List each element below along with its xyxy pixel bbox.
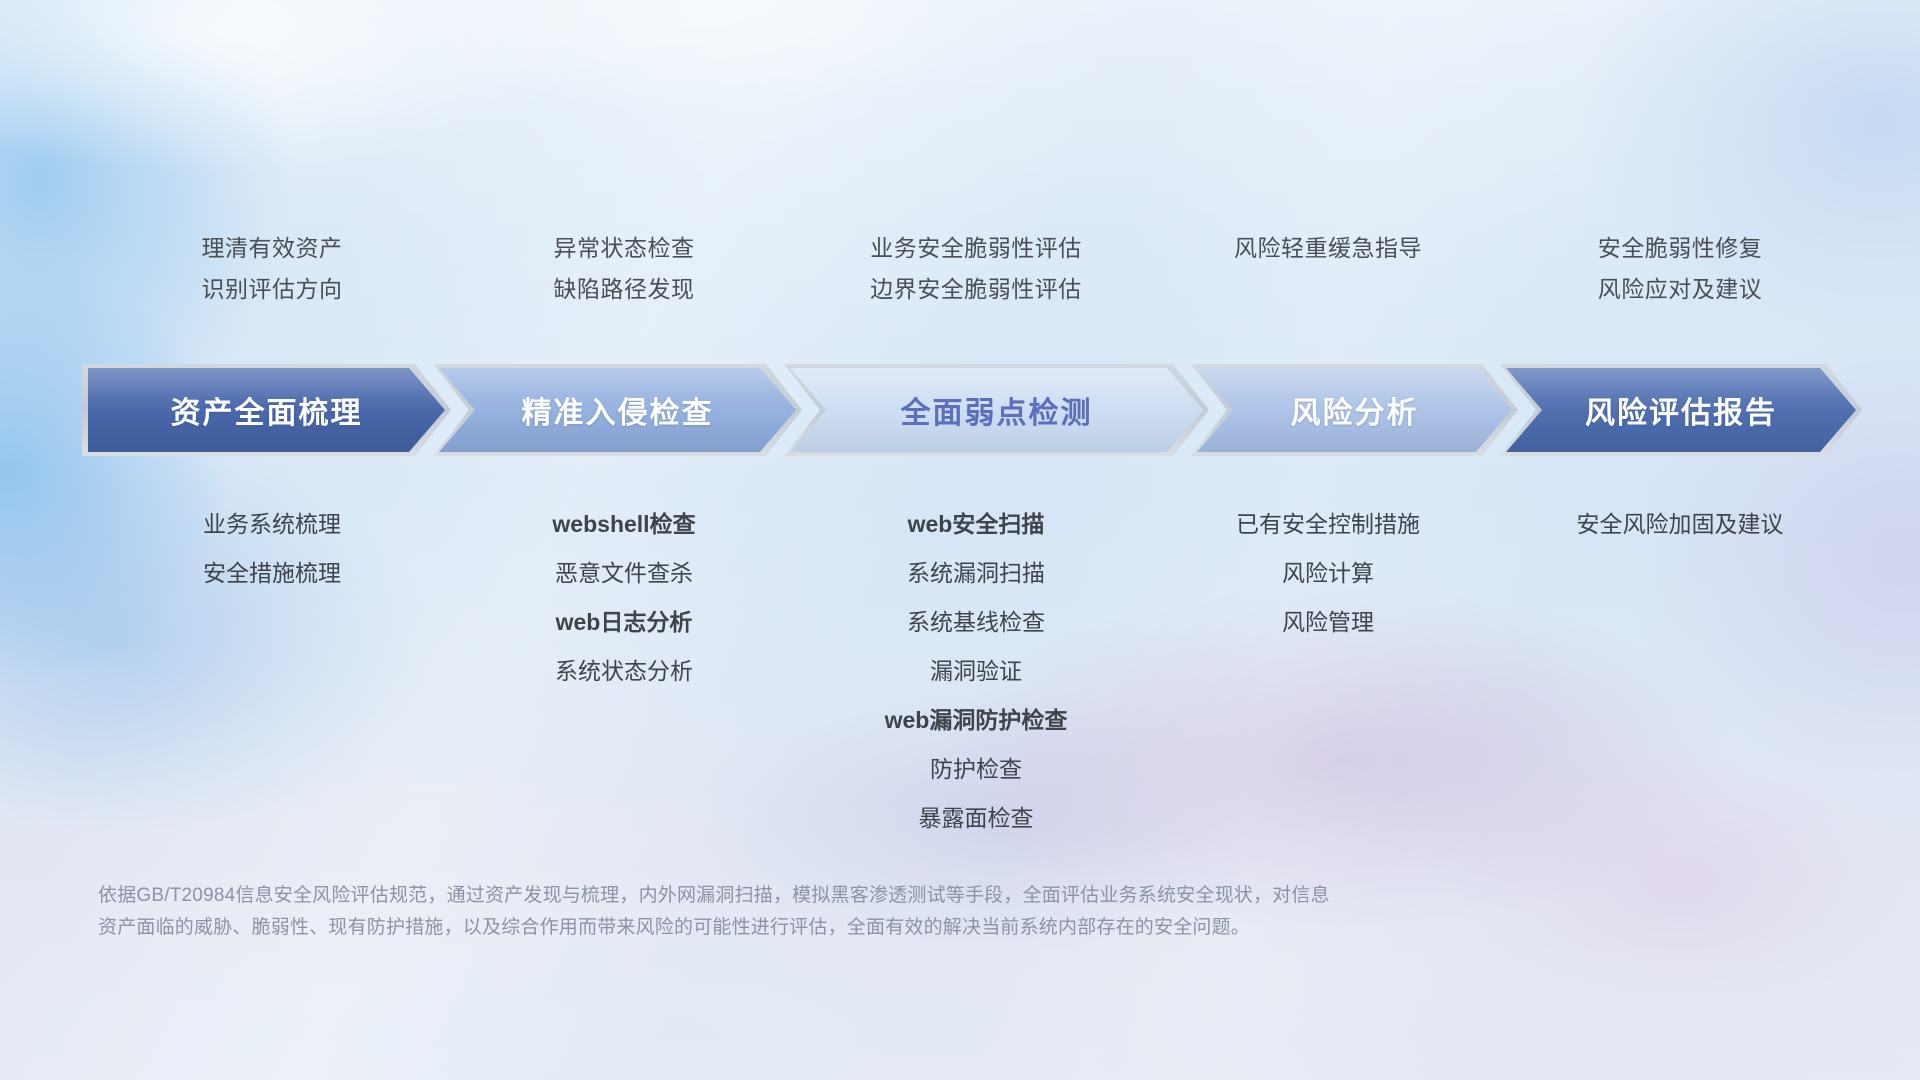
stage-chevron-risk-analysis[interactable]: 风险分析 xyxy=(1197,368,1512,452)
stage-label: 精准入侵检查 xyxy=(522,388,714,432)
caption-line: 缺陷路径发现 xyxy=(448,269,800,310)
stage-chevron-band: 资产全面梳理精准入侵检查全面弱点检测风险分析风险评估报告 xyxy=(88,368,1858,452)
detail-item: 系统基线检查 xyxy=(800,598,1152,647)
stage-top-caption-intrusion-check: 异常状态检查缺陷路径发现 xyxy=(448,228,800,310)
caption-line: 边界安全脆弱性评估 xyxy=(800,269,1152,310)
caption-line: 理清有效资产 xyxy=(96,228,448,269)
detail-item: web安全扫描 xyxy=(800,500,1152,549)
detail-item: web日志分析 xyxy=(448,598,800,647)
stage-top-caption-risk-analysis: 风险轻重缓急指导 xyxy=(1152,228,1504,310)
stage-chevron-weakness-detection[interactable]: 全面弱点检测 xyxy=(790,368,1203,452)
caption-line: 业务安全脆弱性评估 xyxy=(800,228,1152,269)
detail-item: webshell检查 xyxy=(448,500,800,549)
stage-detail-list-asset-inventory: 业务系统梳理安全措施梳理 xyxy=(96,500,448,598)
stage-top-caption-risk-report: 安全脆弱性修复风险应对及建议 xyxy=(1504,228,1856,310)
footer-line-2: 资产面临的威胁、脆弱性、现有防护措施，以及综合作用而带来风险的可能性进行评估，全… xyxy=(98,912,1628,944)
stage-top-caption-weakness-detection: 业务安全脆弱性评估边界安全脆弱性评估 xyxy=(800,228,1152,310)
caption-line: 风险轻重缓急指导 xyxy=(1152,228,1504,269)
detail-item: 风险计算 xyxy=(1152,549,1504,598)
stage-detail-list-risk-report: 安全风险加固及建议 xyxy=(1504,500,1856,549)
footer-line-1: 依据GB/T20984信息安全风险评估规范，通过资产发现与梳理，内外网漏洞扫描，… xyxy=(98,880,1628,912)
caption-line: 异常状态检查 xyxy=(448,228,800,269)
footer-description: 依据GB/T20984信息安全风险评估规范，通过资产发现与梳理，内外网漏洞扫描，… xyxy=(98,880,1628,944)
detail-item: web漏洞防护检查 xyxy=(800,696,1152,745)
detail-item: 暴露面检查 xyxy=(800,794,1152,843)
detail-item: 已有安全控制措施 xyxy=(1152,500,1504,549)
detail-item: 恶意文件查杀 xyxy=(448,549,800,598)
process-diagram: 理清有效资产识别评估方向异常状态检查缺陷路径发现业务安全脆弱性评估边界安全脆弱性… xyxy=(0,0,1920,1080)
stage-label: 风险分析 xyxy=(1291,388,1419,432)
detail-item: 安全风险加固及建议 xyxy=(1504,500,1856,549)
stage-label: 风险评估报告 xyxy=(1585,388,1777,432)
stage-chevron-intrusion-check[interactable]: 精准入侵检查 xyxy=(439,368,796,452)
stage-detail-lists: 业务系统梳理安全措施梳理webshell检查恶意文件查杀web日志分析系统状态分… xyxy=(96,500,1856,843)
detail-item: 风险管理 xyxy=(1152,598,1504,647)
stage-chevron-asset-inventory[interactable]: 资产全面梳理 xyxy=(88,368,445,452)
stage-top-captions: 理清有效资产识别评估方向异常状态检查缺陷路径发现业务安全脆弱性评估边界安全脆弱性… xyxy=(96,228,1856,310)
stage-detail-list-risk-analysis: 已有安全控制措施风险计算风险管理 xyxy=(1152,500,1504,647)
stage-label: 资产全面梳理 xyxy=(171,388,363,432)
stage-top-caption-asset-inventory: 理清有效资产识别评估方向 xyxy=(96,228,448,310)
stage-label: 全面弱点检测 xyxy=(901,388,1093,432)
caption-line: 识别评估方向 xyxy=(96,269,448,310)
detail-item: 业务系统梳理 xyxy=(96,500,448,549)
stage-detail-list-weakness-detection: web安全扫描系统漏洞扫描系统基线检查漏洞验证web漏洞防护检查防护检查暴露面检… xyxy=(800,500,1152,843)
detail-item: 防护检查 xyxy=(800,745,1152,794)
detail-item: 系统漏洞扫描 xyxy=(800,549,1152,598)
stage-detail-list-intrusion-check: webshell检查恶意文件查杀web日志分析系统状态分析 xyxy=(448,500,800,696)
caption-line: 安全脆弱性修复 xyxy=(1504,228,1856,269)
detail-item: 系统状态分析 xyxy=(448,647,800,696)
caption-line: 风险应对及建议 xyxy=(1504,269,1856,310)
stage-chevron-risk-report[interactable]: 风险评估报告 xyxy=(1506,368,1856,452)
detail-item: 漏洞验证 xyxy=(800,647,1152,696)
detail-item: 安全措施梳理 xyxy=(96,549,448,598)
